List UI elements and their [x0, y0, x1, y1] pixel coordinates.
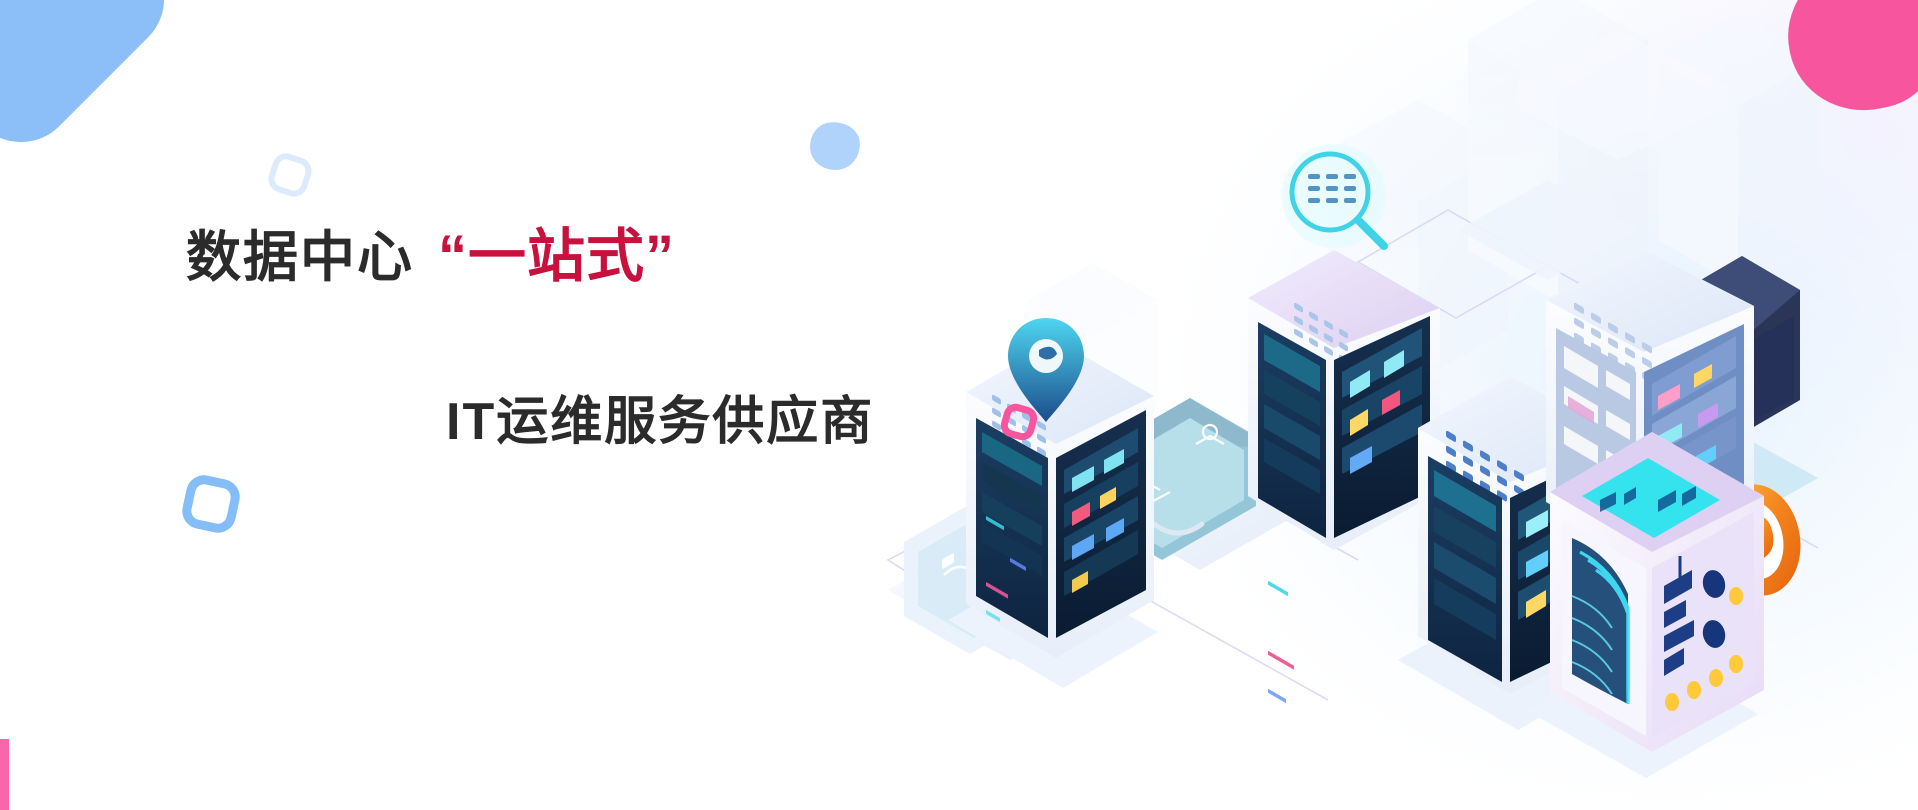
headline-block: 数据中心 “一站式” IT运维服务供应商	[186, 228, 1006, 448]
blob-top-left	[0, 0, 186, 164]
headline-line-1: 数据中心 “一站式”	[186, 228, 1006, 286]
headline-line-2: IT运维服务供应商	[186, 396, 1006, 448]
magnifier-badge	[1282, 144, 1386, 248]
headline-dark-text: 数据中心	[186, 230, 414, 285]
quote-close: ”	[645, 224, 675, 289]
hero-banner: 数据中心 “一站式” IT运维服务供应商	[0, 0, 1918, 810]
ring-left-mid	[179, 472, 243, 536]
quote-open: “	[438, 224, 468, 289]
headline-red-phrase: “一站式”	[438, 228, 675, 286]
headline-red-text: 一站式	[468, 224, 645, 289]
bar-bottom-left	[0, 739, 9, 810]
ring-upper-left	[265, 150, 315, 200]
dot-blue	[807, 119, 863, 173]
